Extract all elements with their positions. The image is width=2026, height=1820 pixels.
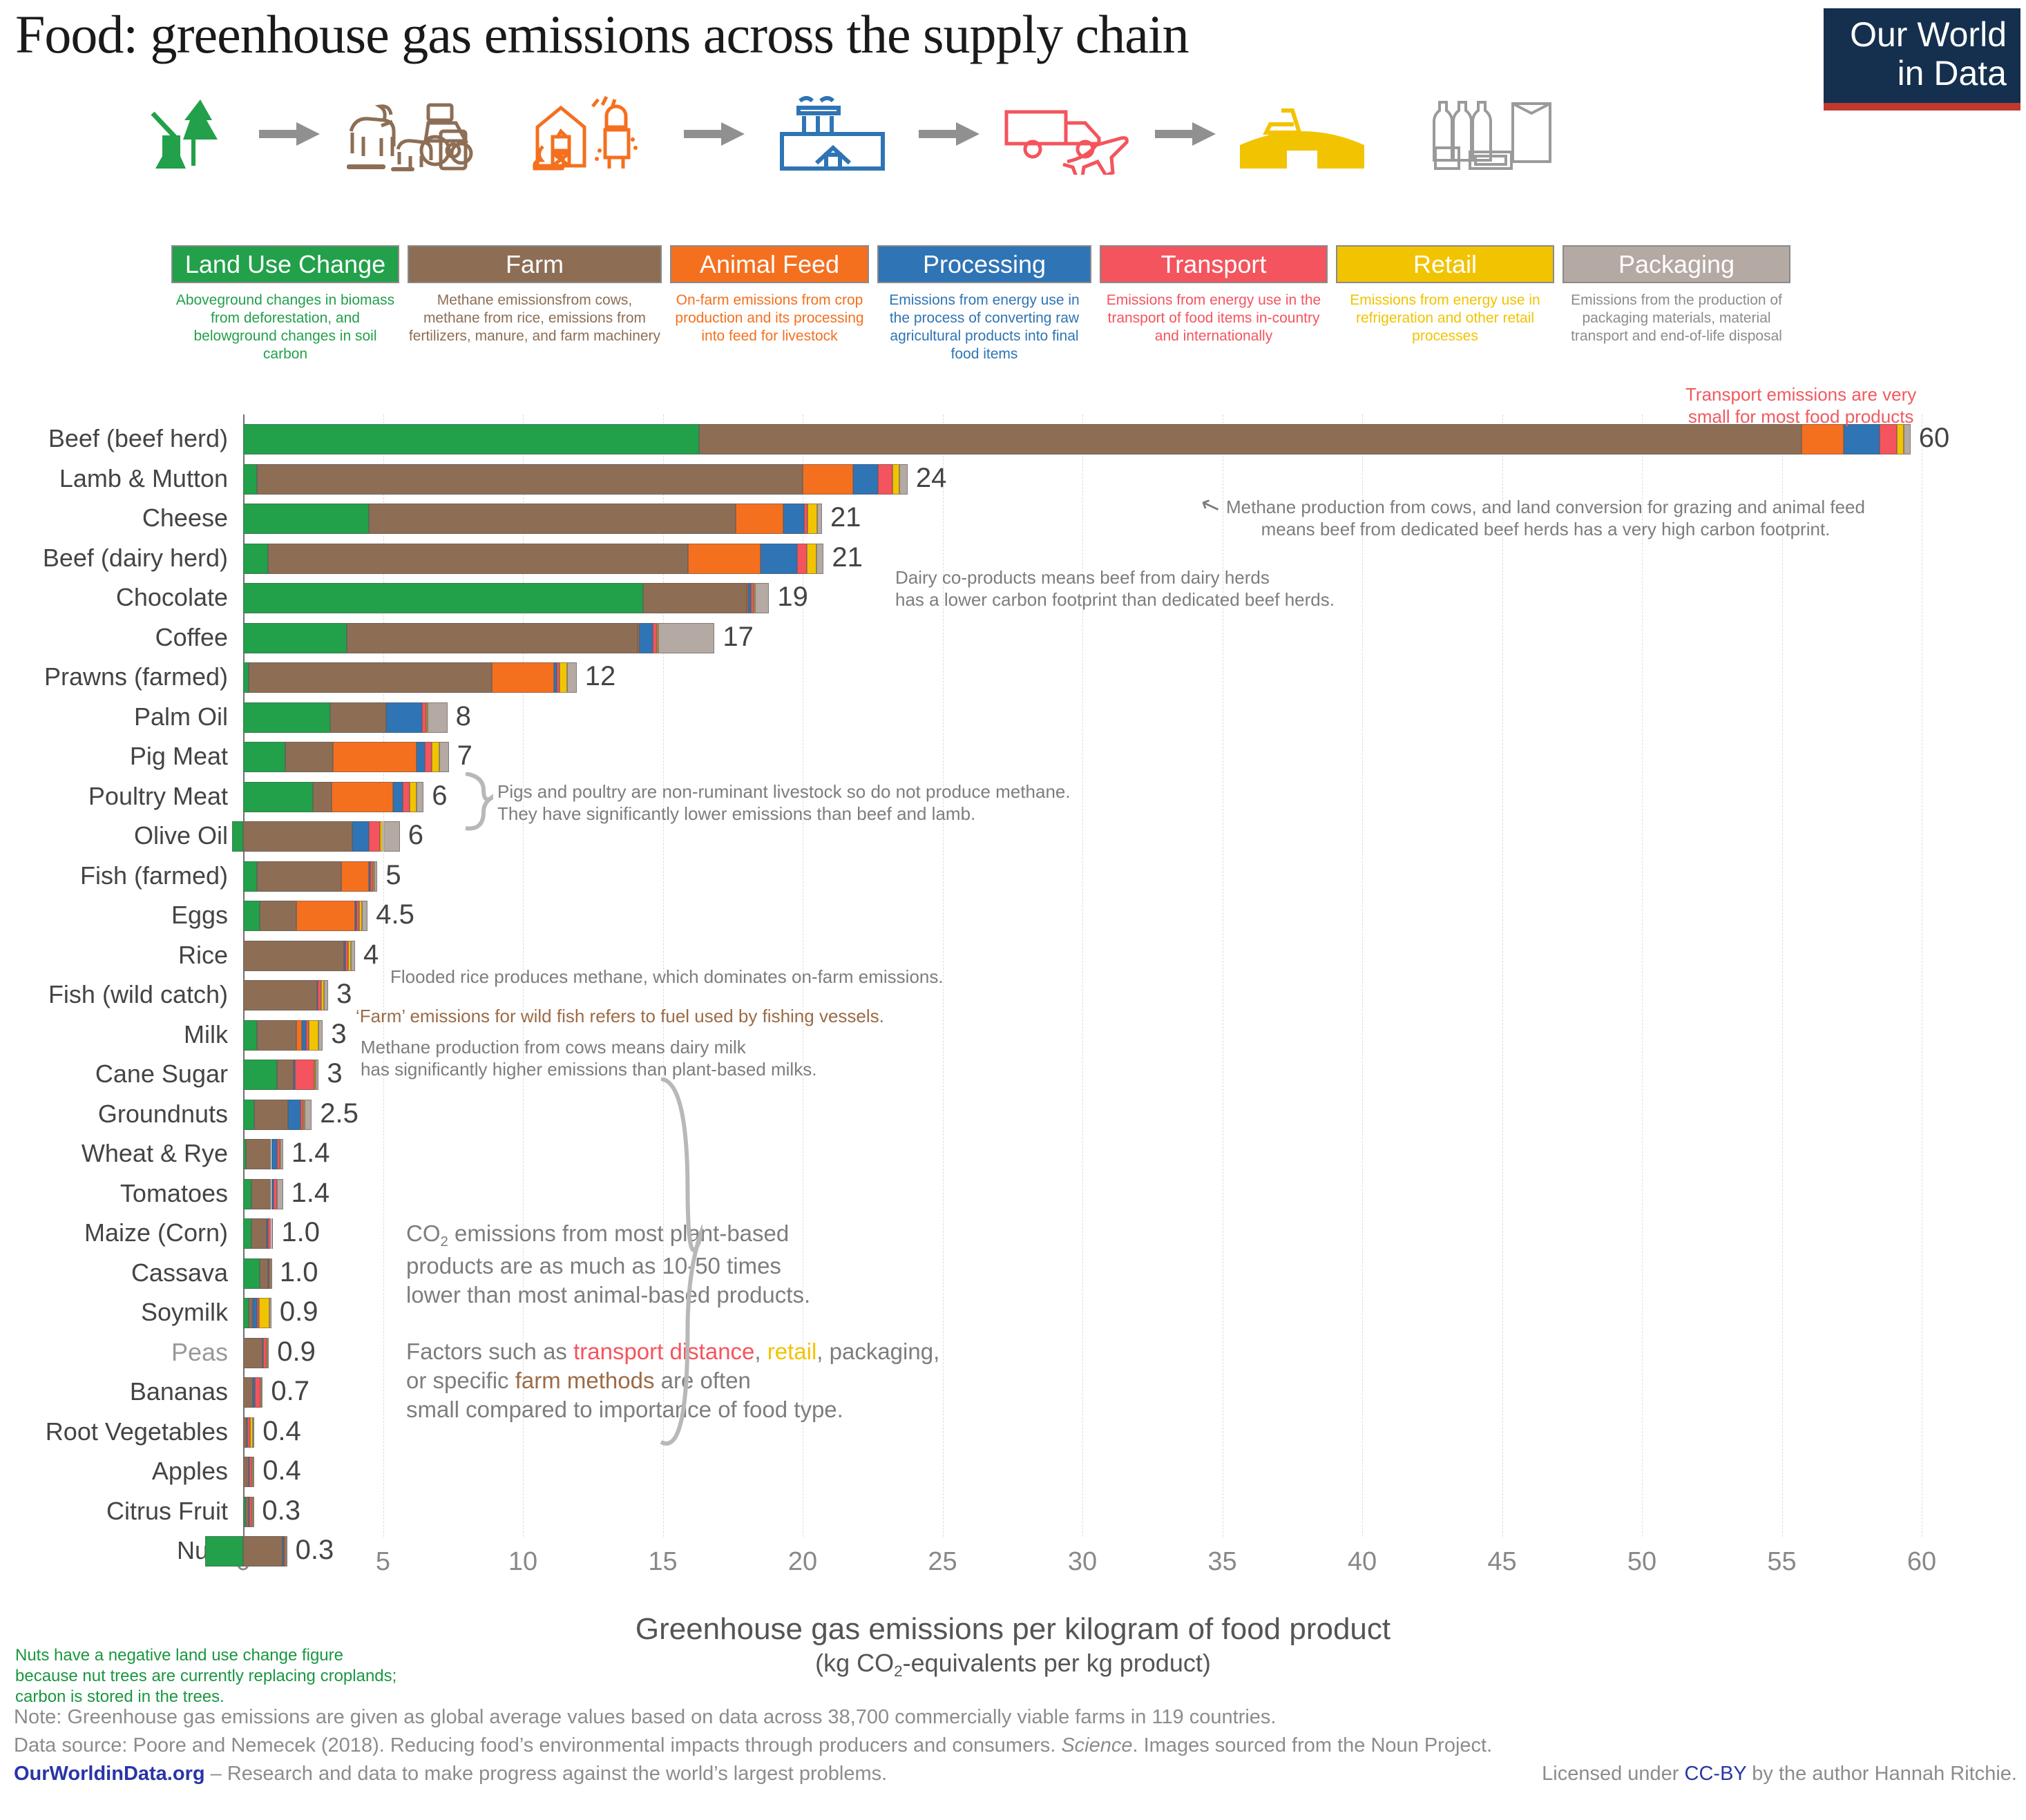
legend-description: On-farm emissions from crop production a… xyxy=(670,291,869,345)
legend-chip-label: Land Use Change xyxy=(171,245,399,283)
owid-logo-line2: in Data xyxy=(1898,54,2007,93)
infographic-page: Food: greenhouse gas emissions across th… xyxy=(0,0,2026,1820)
bar-segment-retail[interactable] xyxy=(309,1020,318,1051)
footer-license-post: by the author Hannah Ritchie. xyxy=(1746,1763,2017,1785)
bar-segment-packaging[interactable] xyxy=(362,901,367,931)
bar-segment-farm[interactable] xyxy=(249,662,492,693)
bar-segment-animal-feed[interactable] xyxy=(341,861,370,892)
bar-segment-packaging[interactable] xyxy=(324,980,328,1010)
footer-tagline: – Research and data to make progress aga… xyxy=(205,1763,888,1785)
bar-segment-animal-feed[interactable] xyxy=(492,662,553,693)
legend-item-farm[interactable]: FarmMethane emissionsfrom cows, methane … xyxy=(408,245,662,345)
legend-description: Emissions from energy use in refrigerati… xyxy=(1336,291,1554,345)
bar-row[interactable]: 3 xyxy=(0,1020,2026,1051)
legend-description: Aboveground changes in biomass from defo… xyxy=(171,291,399,363)
bar-segment-retail[interactable] xyxy=(807,544,816,574)
bar-segment-farm[interactable] xyxy=(254,1100,288,1130)
bar-segment-farm[interactable] xyxy=(268,544,688,574)
footer-license-pre: Licensed under xyxy=(1542,1763,1684,1785)
bar-segment-transport[interactable] xyxy=(797,544,807,574)
bar-segment-packaging[interactable] xyxy=(271,1218,273,1249)
bar-segment-packaging[interactable] xyxy=(286,1536,287,1567)
bar-segment-processing[interactable] xyxy=(386,702,423,733)
bar-row[interactable]: 1.4 xyxy=(0,1139,2026,1169)
bar-segment-processing[interactable] xyxy=(393,782,403,812)
bar-value-label: 0.4 xyxy=(262,1455,301,1486)
annotation-wild-fish: ‘Farm’ emissions for wild fish refers to… xyxy=(356,1005,884,1027)
bar-segment-farm[interactable] xyxy=(251,1218,267,1249)
bar-segment-farm[interactable] xyxy=(330,702,386,733)
deforestation-icon xyxy=(124,93,249,176)
processing-factory-icon xyxy=(760,93,905,176)
bar-segment-packaging[interactable] xyxy=(428,702,447,733)
bar-value-label: 1.0 xyxy=(280,1256,318,1288)
bar-segment-processing[interactable] xyxy=(352,821,369,852)
bar-segment-land-use-change[interactable] xyxy=(243,901,260,931)
bar-segment-land-use-change[interactable] xyxy=(243,544,268,574)
annotation-dairy-herd: Dairy co-products means beef from dairy … xyxy=(895,566,1335,611)
bar-row[interactable]: 2.5 xyxy=(0,1100,2026,1130)
legend-item-processing[interactable]: ProcessingEmissions from energy use in t… xyxy=(877,245,1091,363)
bar-segment-packaging[interactable] xyxy=(271,1258,272,1289)
bar-value-label: 3 xyxy=(331,1018,346,1050)
bar-segment-packaging[interactable] xyxy=(280,1139,283,1169)
bar-segment-packaging[interactable] xyxy=(318,1020,323,1051)
annotation-nuts: Nuts have a negative land use change fig… xyxy=(15,1645,396,1707)
bar-row[interactable]: 4 xyxy=(0,941,2026,971)
bar-segment-farm[interactable] xyxy=(643,583,747,613)
bar-segment-land-use-change[interactable] xyxy=(243,742,285,772)
bar-value-label: 4.5 xyxy=(376,899,414,930)
bar-segment-transport[interactable] xyxy=(1880,424,1896,454)
bar-row[interactable]: 7 xyxy=(0,742,2026,772)
bar-segment-processing[interactable] xyxy=(288,1100,300,1130)
bar-segment-farm[interactable] xyxy=(285,742,333,772)
bar-segment-packaging[interactable] xyxy=(253,1497,254,1527)
bar-row[interactable]: 0.9 xyxy=(0,1298,2026,1328)
footer: Note: Greenhouse gas emissions are given… xyxy=(14,1703,2017,1788)
bar-segment-packaging[interactable] xyxy=(816,544,823,574)
bar-value-label: 21 xyxy=(830,501,861,533)
legend-chip-label: Packaging xyxy=(1562,245,1790,283)
legend-description: Emissions from the production of packagi… xyxy=(1562,291,1790,345)
bar-segment-transport[interactable] xyxy=(425,742,432,772)
animal-feed-barn-icon xyxy=(518,93,670,176)
footer-source-journal: Science xyxy=(1061,1734,1132,1756)
bar-segment-farm[interactable] xyxy=(243,1457,249,1487)
bar-segment-retail[interactable] xyxy=(892,464,899,495)
bar-segment-processing[interactable] xyxy=(1844,424,1880,454)
bar-segment-farm[interactable] xyxy=(277,1060,294,1090)
bar-segment-transport[interactable] xyxy=(403,782,410,812)
owid-website-link[interactable]: OurWorldinData.org xyxy=(14,1763,205,1785)
bar-value-label: 0.3 xyxy=(296,1534,334,1566)
bar-segment-land-use-change[interactable] xyxy=(243,623,347,653)
bar-segment-land-use-change[interactable] xyxy=(243,1020,257,1051)
bar-row[interactable]: 1.4 xyxy=(0,1179,2026,1209)
bar-value-label: 6 xyxy=(408,819,423,851)
bar-value-label: 0.4 xyxy=(262,1415,301,1447)
bar-row[interactable]: 3 xyxy=(0,980,2026,1010)
arrow-icon xyxy=(677,117,753,151)
bar-row[interactable]: 0.7 xyxy=(0,1377,2026,1408)
bar-segment-packaging[interactable] xyxy=(269,1298,271,1328)
bar-segment-animal-feed[interactable] xyxy=(688,544,761,574)
footer-note: Note: Greenhouse gas emissions are given… xyxy=(14,1703,2017,1732)
bar-value-label: 2.5 xyxy=(320,1098,359,1129)
legend: Land Use ChangeAboveground changes in bi… xyxy=(171,245,1829,366)
bar-value-label: 0.7 xyxy=(271,1375,309,1407)
bar-row[interactable]: 0.4 xyxy=(0,1417,2026,1448)
bar-segment-farm[interactable] xyxy=(699,424,1802,454)
legend-item-transport[interactable]: TransportEmissions from energy use in th… xyxy=(1100,245,1328,345)
brace-bracket xyxy=(660,1077,703,1582)
bar-segment-packaging[interactable] xyxy=(899,464,908,495)
bar-segment-farm[interactable] xyxy=(260,901,296,931)
footer-license: Licensed under CC-BY by the author Hanna… xyxy=(1542,1760,2017,1788)
bar-segment-land-use-change[interactable] xyxy=(243,583,643,613)
bar-value-label: 12 xyxy=(585,660,616,692)
legend-item-retail[interactable]: RetailEmissions from energy use in refri… xyxy=(1336,245,1554,345)
footer-source-b: . Images sourced from the Noun Project. xyxy=(1133,1734,1493,1756)
bar-segment-packaging[interactable] xyxy=(351,941,355,971)
legend-description: Methane emissionsfrom cows, methane from… xyxy=(408,291,662,345)
bar-row[interactable]: 0.4 xyxy=(0,1457,2026,1487)
bar-row[interactable]: 6 xyxy=(0,821,2026,852)
bar-segment-transport[interactable] xyxy=(878,464,892,495)
bar-segment-farm[interactable] xyxy=(257,464,803,495)
legend-description: Emissions from energy use in the process… xyxy=(877,291,1091,363)
legend-item-packaging[interactable]: PackagingEmissions from the production o… xyxy=(1562,245,1790,345)
bar-segment-animal-feed[interactable] xyxy=(1802,424,1844,454)
bar-segment-animal-feed[interactable] xyxy=(332,782,393,812)
bar-segment-animal-feed[interactable] xyxy=(803,464,853,495)
annotation-milk: Methane production from cows means dairy… xyxy=(361,1036,816,1080)
bar-segment-packaging[interactable] xyxy=(658,623,714,653)
bar-segment-packaging[interactable] xyxy=(374,861,377,892)
bar-value-label: 60 xyxy=(1919,422,1950,454)
bar-segment-farm[interactable] xyxy=(246,1139,271,1169)
bar-segment-farm[interactable] xyxy=(251,1179,271,1209)
bar-segment-transport[interactable] xyxy=(369,821,380,852)
bar-segment-packaging[interactable] xyxy=(261,1377,262,1408)
bar-row[interactable]: 1.0 xyxy=(0,1218,2026,1249)
bar-value-label: 1.0 xyxy=(281,1216,320,1248)
bar-segment-packaging[interactable] xyxy=(417,782,423,812)
bar-segment-processing[interactable] xyxy=(853,464,878,495)
bar-value-label: 6 xyxy=(432,780,447,812)
farm-livestock-tractor-icon xyxy=(332,93,484,176)
page-title: Food: greenhouse gas emissions across th… xyxy=(15,6,1189,64)
bar-row[interactable]: 24 xyxy=(0,464,2026,495)
arrow-icon xyxy=(1148,117,1224,151)
bar-segment-farm[interactable] xyxy=(243,1377,253,1408)
bar-segment-farm[interactable] xyxy=(257,1020,296,1051)
bar-segment-transport[interactable] xyxy=(295,1060,314,1090)
bar-value-label: 8 xyxy=(456,700,471,732)
bar-segment-farm[interactable] xyxy=(243,1536,283,1567)
bar-segment-processing[interactable] xyxy=(639,623,653,653)
axis-subtitle-pre: (kg CO xyxy=(815,1649,894,1677)
bar-segment-packaging[interactable] xyxy=(1904,424,1911,454)
arrow-icon xyxy=(912,117,988,151)
cc-by-link[interactable]: CC-BY xyxy=(1685,1763,1747,1785)
bar-value-label: 1.4 xyxy=(292,1137,330,1169)
transport-truck-plane-icon xyxy=(991,93,1143,176)
bar-segment-retail[interactable] xyxy=(259,1298,269,1328)
bar-segment-farm[interactable] xyxy=(347,623,638,653)
bar-segment-processing[interactable] xyxy=(761,544,797,574)
legend-chip-label: Animal Feed xyxy=(670,245,869,283)
axis-title: Greenhouse gas emissions per kilogram of… xyxy=(0,1611,2026,1648)
bar-segment-packaging[interactable] xyxy=(277,1179,283,1209)
bar-segment-land-use-change[interactable] xyxy=(243,782,313,812)
bar-segment-farm[interactable] xyxy=(243,1338,262,1368)
bar-segment-processing[interactable] xyxy=(783,504,804,534)
bar-segment-packaging[interactable] xyxy=(383,821,400,852)
bar-segment-land-use-change[interactable] xyxy=(243,504,369,534)
bar-segment-farm[interactable] xyxy=(313,782,331,812)
bar-segment-farm[interactable] xyxy=(369,504,736,534)
bar-value-label: 3 xyxy=(327,1057,342,1089)
bar-value-label: 0.3 xyxy=(262,1495,300,1526)
bar-value-label: 4 xyxy=(363,939,379,970)
bar-segment-packaging[interactable] xyxy=(305,1100,312,1130)
bar-segment-land-use-change[interactable] xyxy=(243,861,257,892)
bar-segment-retail[interactable] xyxy=(807,504,817,534)
bar-row[interactable]: 3 xyxy=(0,1060,2026,1090)
bar-segment-farm[interactable] xyxy=(243,821,352,852)
bar-value-label: 7 xyxy=(457,740,472,772)
bar-segment-land-use-change[interactable] xyxy=(243,1100,254,1130)
legend-chip-label: Farm xyxy=(408,245,662,283)
bar-value-label: 1.4 xyxy=(292,1177,330,1209)
bar-value-label: 24 xyxy=(916,462,947,494)
bar-value-label: 19 xyxy=(777,581,808,613)
owid-logo-line1: Our World xyxy=(1850,15,2007,54)
bar-row[interactable]: 1.0 xyxy=(0,1258,2026,1289)
bar-row[interactable]: 0.3 xyxy=(0,1536,2026,1567)
bar-segment-packaging[interactable] xyxy=(439,742,449,772)
bar-segment-packaging[interactable] xyxy=(755,583,769,613)
bar-segment-farm[interactable] xyxy=(260,1258,268,1289)
bar-segment-land-use-change[interactable] xyxy=(243,1218,251,1249)
bar-row[interactable]: 12 xyxy=(0,662,2026,693)
legend-chip-label: Transport xyxy=(1100,245,1328,283)
bar-segment-transport[interactable] xyxy=(255,1377,260,1408)
bar-segment-processing[interactable] xyxy=(271,1139,277,1169)
bar-segment-land-use-change[interactable] xyxy=(243,1060,277,1090)
footer-link-line: OurWorldinData.org – Research and data t… xyxy=(14,1760,2017,1788)
bar-segment-retail[interactable] xyxy=(560,662,566,693)
bar-value-label: 17 xyxy=(723,621,754,653)
legend-item-animal-feed[interactable]: Animal FeedOn-farm emissions from crop p… xyxy=(670,245,869,345)
bar-segment-land-use-change[interactable] xyxy=(243,702,330,733)
bar-segment-retail[interactable] xyxy=(432,742,439,772)
annotation-rice: Flooded rice produces methane, which dom… xyxy=(390,966,944,988)
bar-segment-land-use-change[interactable] xyxy=(243,424,699,454)
axis-subtitle-post: -equivalents per kg product) xyxy=(903,1649,1211,1677)
owid-logo[interactable]: Our World in Data xyxy=(1824,8,2020,111)
annotation-pigs-poultry: Pigs and poultry are non-ruminant livest… xyxy=(497,780,1071,825)
packaging-bottles-icon xyxy=(1409,93,1589,176)
axis-subtitle-sub: 2 xyxy=(894,1663,902,1680)
bar-segment-land-use-change[interactable] xyxy=(243,1258,260,1289)
bar-row[interactable]: 0.3 xyxy=(0,1497,2026,1527)
bar-segment-packaging[interactable] xyxy=(817,504,822,534)
bar-segment-packaging[interactable] xyxy=(567,662,577,693)
bar-segment-packaging[interactable] xyxy=(267,1338,269,1368)
bar-segment-farm[interactable] xyxy=(243,941,344,971)
bar-value-label: 21 xyxy=(832,542,863,573)
bar-row[interactable]: 60 xyxy=(0,424,2026,454)
retail-shop-trolley-icon xyxy=(1226,93,1378,176)
bar-row[interactable]: 4.5 xyxy=(0,901,2026,931)
bar-segment-animal-feed[interactable] xyxy=(296,901,355,931)
bar-segment-animal-feed[interactable] xyxy=(736,504,783,534)
bar-segment-land-use-change[interactable] xyxy=(205,1536,243,1567)
bar-segment-animal-feed[interactable] xyxy=(333,742,417,772)
annotation-leader-line xyxy=(1892,425,1893,451)
annotation-transport-small: Transport emissions are very small for m… xyxy=(1685,383,1916,428)
bar-segment-processing[interactable] xyxy=(417,742,425,772)
footer-source: Data source: Poore and Nemecek (2018). R… xyxy=(14,1732,2017,1760)
bar-segment-land-use-change[interactable] xyxy=(243,662,249,693)
bar-segment-animal-feed[interactable] xyxy=(296,1020,302,1051)
bar-segment-land-use-change[interactable] xyxy=(243,464,257,495)
legend-chip-label: Processing xyxy=(877,245,1091,283)
bar-segment-retail[interactable] xyxy=(410,782,417,812)
bar-value-label: 0.9 xyxy=(280,1296,318,1328)
supply-chain-icon-strip xyxy=(104,93,1692,176)
bar-segment-packaging[interactable] xyxy=(253,1457,254,1487)
bar-segment-farm[interactable] xyxy=(257,861,341,892)
bar-row[interactable]: 0.9 xyxy=(0,1338,2026,1368)
bar-segment-packaging[interactable] xyxy=(253,1417,254,1448)
bar-value-label: 3 xyxy=(336,978,352,1010)
legend-item-land-use-change[interactable]: Land Use ChangeAboveground changes in bi… xyxy=(171,245,399,363)
footer-source-a: Data source: Poore and Nemecek (2018). R… xyxy=(14,1734,1061,1756)
bar-row[interactable]: 5 xyxy=(0,861,2026,892)
bar-segment-retail[interactable] xyxy=(1897,424,1904,454)
footer-note-text: Note: Greenhouse gas emissions are given… xyxy=(14,1706,1276,1728)
bar-segment-land-use-change[interactable] xyxy=(243,1298,249,1328)
bar-segment-land-use-change[interactable] xyxy=(243,1179,251,1209)
bar-value-label: 5 xyxy=(385,859,401,891)
legend-description: Emissions from energy use in the transpo… xyxy=(1100,291,1328,345)
annotation-beef-herd: Methane production from cows, and land c… xyxy=(1226,496,1865,540)
legend-chip-label: Retail xyxy=(1336,245,1554,283)
arrow-icon xyxy=(252,117,328,151)
brace-bracket xyxy=(464,772,493,848)
bar-segment-land-use-change[interactable] xyxy=(232,821,243,852)
bar-value-label: 0.9 xyxy=(277,1336,316,1368)
bar-segment-packaging[interactable] xyxy=(316,1060,318,1090)
bar-row[interactable]: 17 xyxy=(0,623,2026,653)
bar-segment-farm[interactable] xyxy=(243,980,317,1010)
bar-row[interactable]: 8 xyxy=(0,702,2026,733)
